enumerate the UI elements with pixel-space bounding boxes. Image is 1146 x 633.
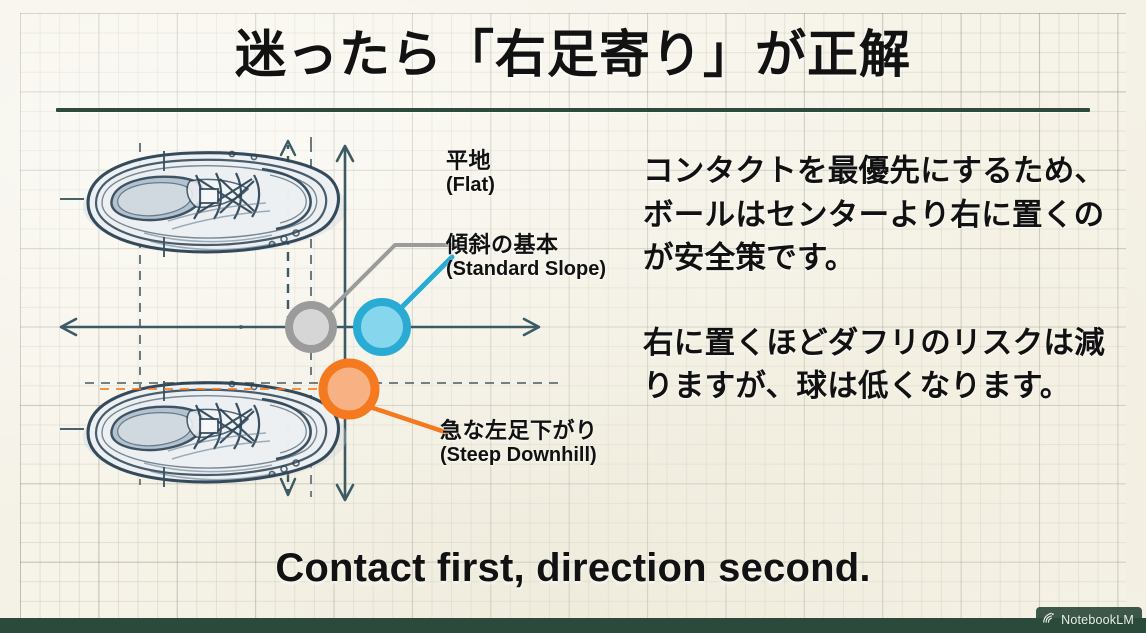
shoe-sketch-bottom — [60, 381, 347, 487]
notebooklm-watermark: NotebookLM — [1036, 607, 1142, 633]
shoe-sketch-top — [60, 151, 347, 257]
footer-caption: Contact first, direction second. — [0, 546, 1146, 591]
callout-label-standard-slope: 傾斜の基本 (Standard Slope) — [446, 232, 606, 282]
notebooklm-logo-icon — [1042, 611, 1056, 630]
callout-label-standard-slope-en: (Standard Slope) — [446, 258, 606, 282]
callout-label-steep-downhill-en: (Steep Downhill) — [440, 444, 598, 468]
callout-label-standard-slope-jp: 傾斜の基本 — [446, 232, 606, 258]
callout-label-flat-jp: 平地 — [446, 148, 495, 174]
title-divider — [56, 108, 1090, 112]
body-paragraph-2: 右に置くほどダフリのリスクは減りますが、球は低くなります。 — [643, 322, 1113, 409]
page-title: 迷ったら「右足寄り」が正解 — [0, 26, 1146, 83]
leader-line-standard-slope — [400, 257, 452, 309]
callout-label-steep-downhill-jp: 急な左足下がり — [440, 418, 598, 444]
leader-line-steep-downhill — [370, 407, 448, 433]
marker-flat — [289, 305, 333, 349]
callout-label-flat-en: (Flat) — [446, 174, 495, 198]
notebooklm-watermark-text: NotebookLM — [1061, 613, 1134, 627]
marker-standard-slope — [357, 302, 407, 352]
callout-label-steep-downhill: 急な左足下がり (Steep Downhill) — [440, 418, 598, 468]
body-paragraph-1: コンタクトを最優先にするため、ボールはセンターより右に置くのが安全策です。 — [643, 150, 1113, 281]
bottom-accent-bar — [0, 618, 1146, 633]
body-text-column: コンタクトを最優先にするため、ボールはセンターより右に置くのが安全策です。 右に… — [643, 150, 1113, 409]
callout-label-flat: 平地 (Flat) — [446, 148, 495, 198]
slide-canvas: 迷ったら「右足寄り」が正解 — [0, 0, 1146, 633]
marker-steep-downhill — [323, 363, 375, 415]
